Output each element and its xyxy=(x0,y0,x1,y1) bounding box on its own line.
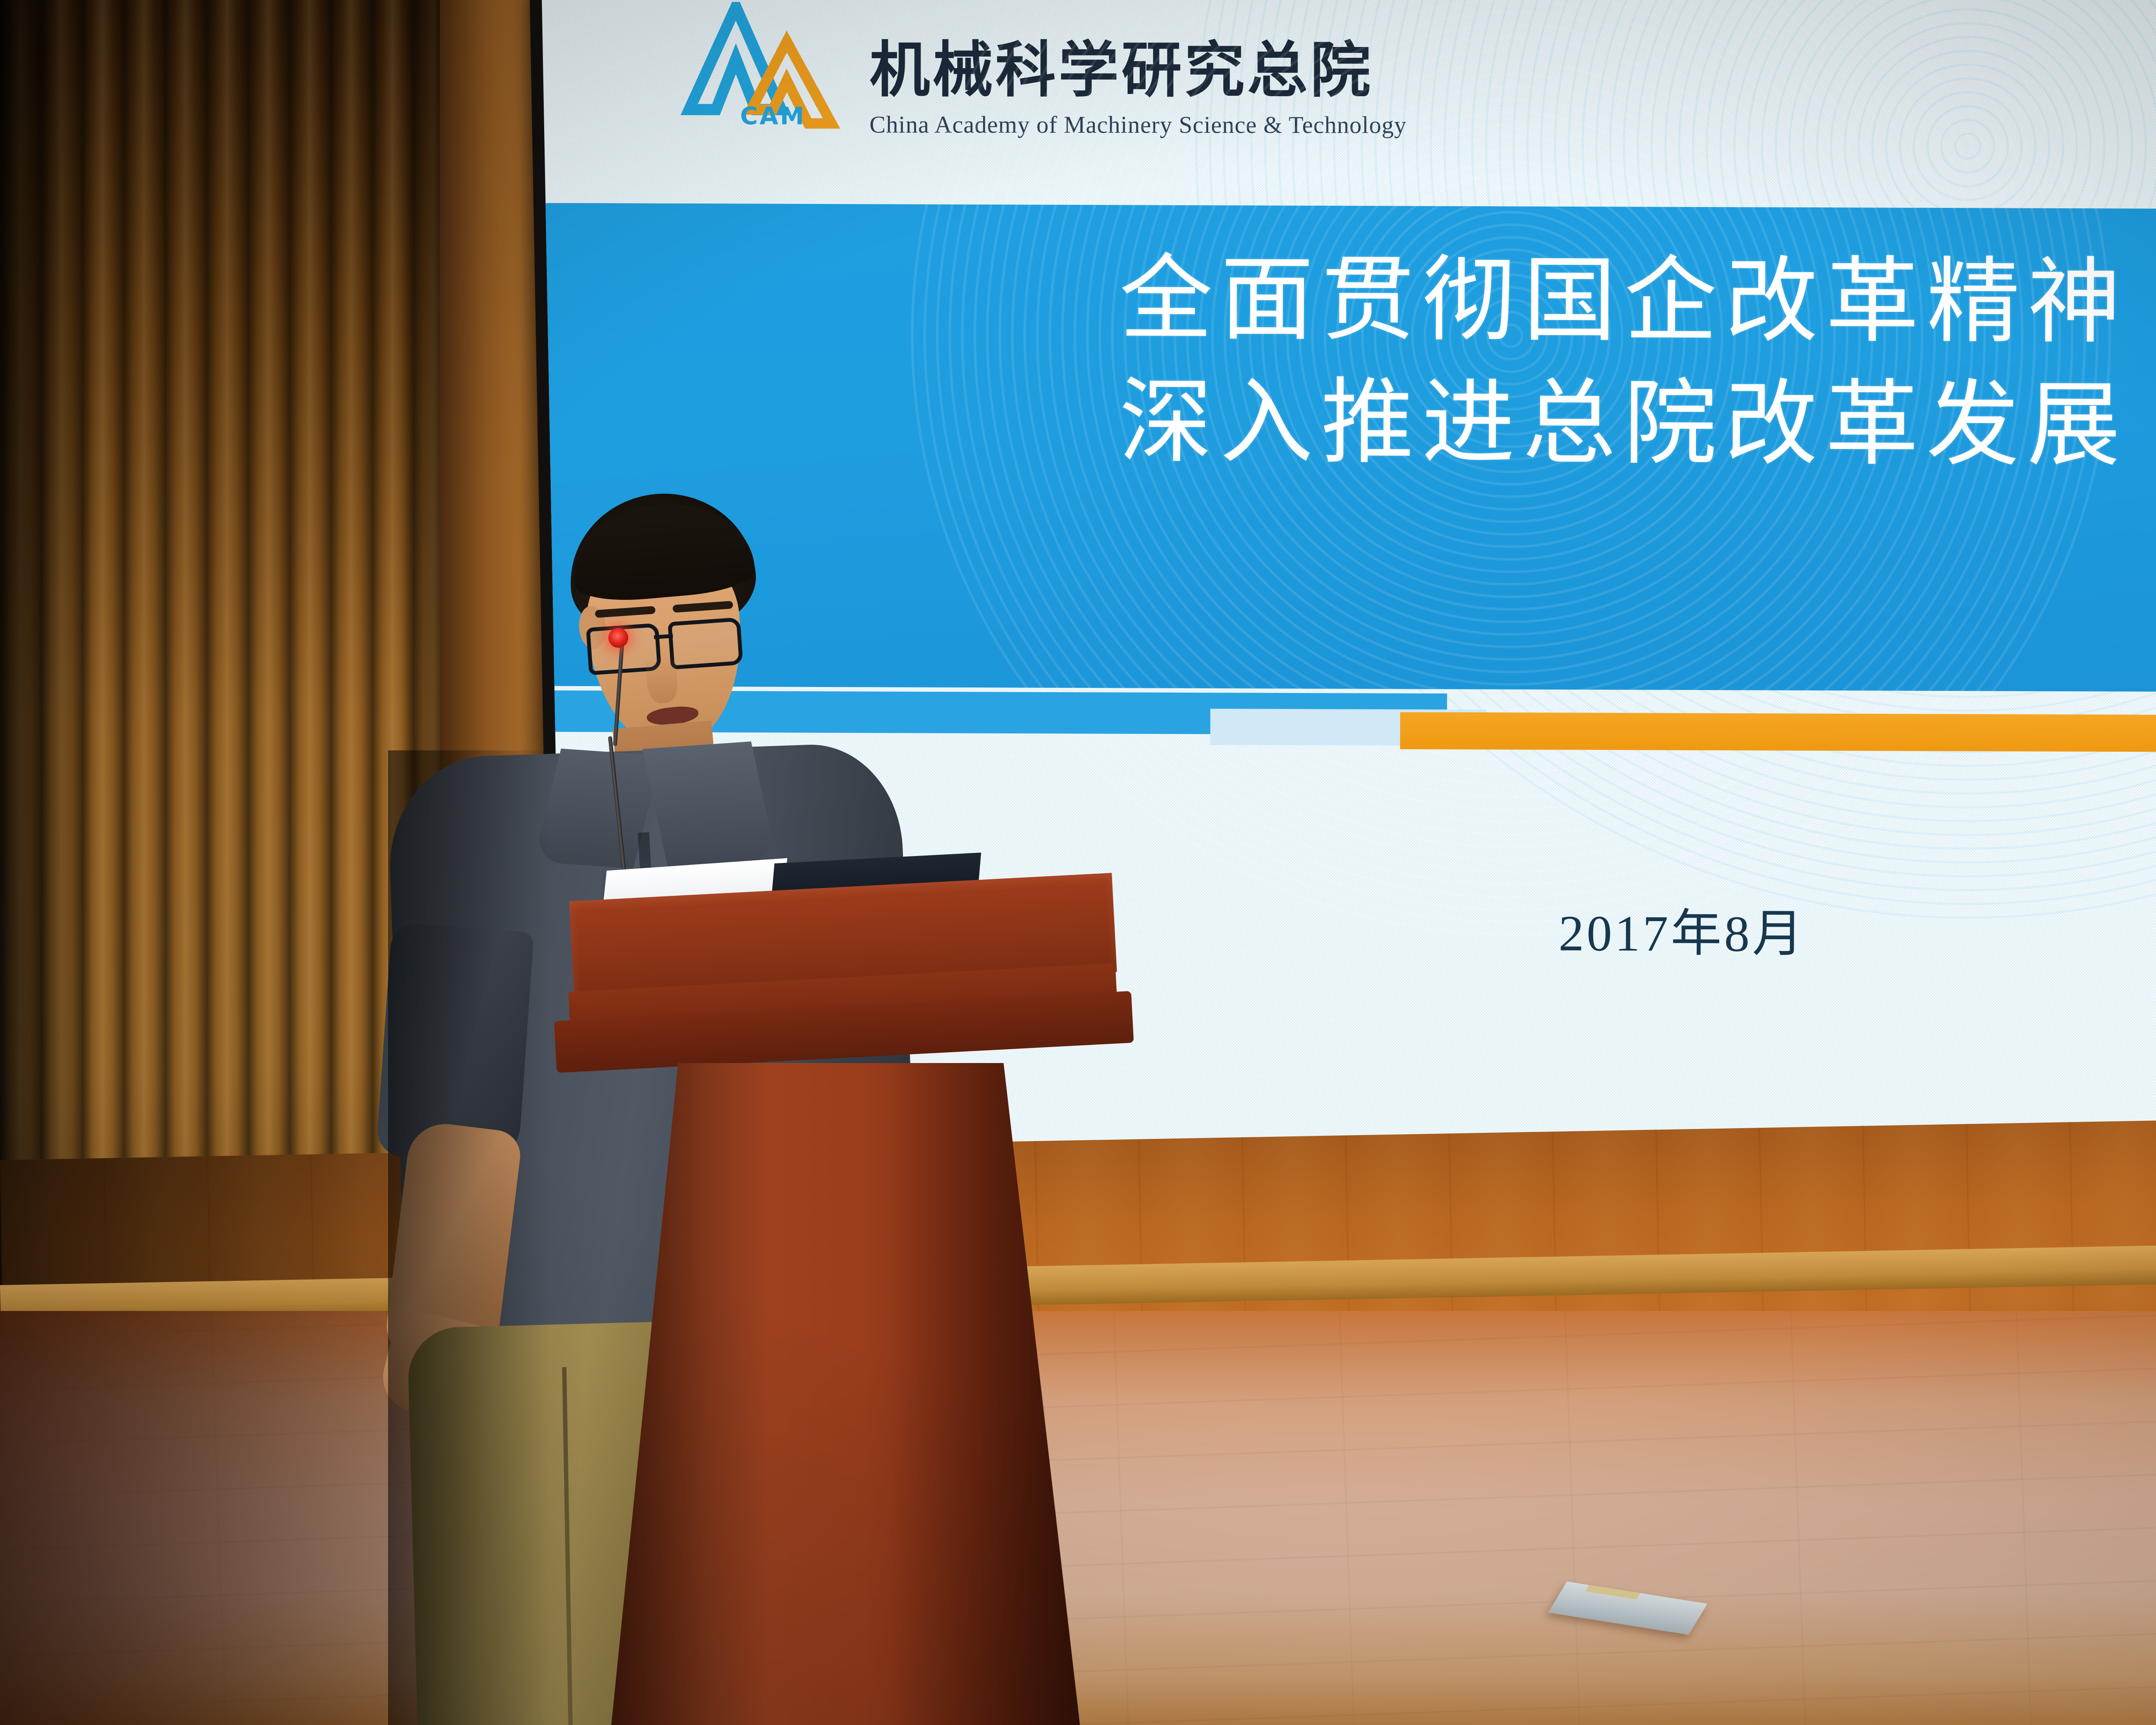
microphone-icon xyxy=(608,628,628,648)
presentation-scene: CAM 机械科学研究总院 China Academy of Machinery … xyxy=(0,0,2156,1725)
cam-mountain-icon: CAM xyxy=(671,2,852,131)
slide-date: 2017年8月 xyxy=(1558,891,1806,966)
slide-title: 全面贯彻国企改革精神 深入推进总院改革发展 xyxy=(1119,237,2156,488)
glasses-lens-right xyxy=(667,617,743,669)
decor-bar-orange xyxy=(1400,712,2156,753)
title-line-2: 深入推进总院改革发展 xyxy=(1119,360,2156,488)
title-line-1: 全面贯彻国企改革精神 xyxy=(1119,237,2156,365)
svg-text:CAM: CAM xyxy=(740,102,805,130)
lectern-column-shading xyxy=(602,1063,1080,1725)
